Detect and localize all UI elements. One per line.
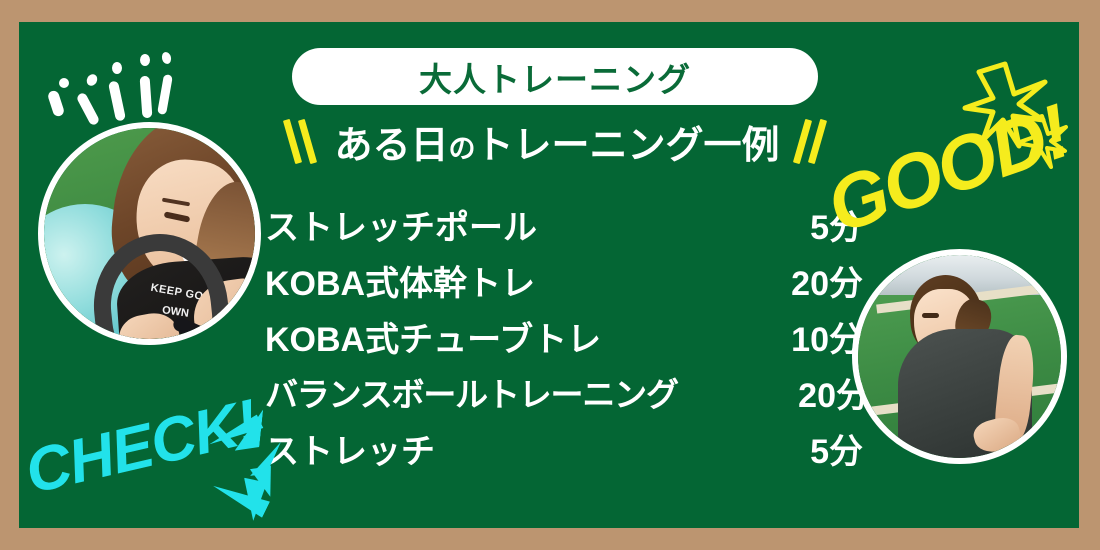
menu-name: バランスボールトレーニング bbox=[265, 368, 678, 416]
menu-name: KOBA式体幹トレ bbox=[265, 256, 535, 305]
emphasis-dash-icon bbox=[112, 62, 122, 74]
subtitle-particle: の bbox=[449, 134, 476, 164]
emphasis-dash-icon-group bbox=[39, 32, 169, 132]
menu-duration: 20分 bbox=[791, 256, 863, 305]
page-title: 大人トレーニング bbox=[419, 53, 691, 101]
menu-duration: 5分 bbox=[810, 424, 863, 473]
double-slash-icon-right bbox=[794, 117, 828, 165]
training-info-card: 大人トレーニング ある日のトレーニング一例 ストレッチポール 5分 KOBA式体… bbox=[19, 22, 1079, 528]
emphasis-dash-icon bbox=[85, 72, 99, 87]
training-menu-list: ストレッチポール 5分 KOBA式体幹トレ 20分 KOBA式チューブトレ 10… bbox=[265, 196, 865, 476]
check-badge: CHECK! bbox=[19, 402, 289, 512]
emphasis-dash-icon bbox=[47, 89, 65, 117]
menu-name: KOBA式チューブトレ bbox=[265, 312, 601, 361]
emphasis-dash-icon bbox=[157, 74, 173, 115]
list-item: ストレッチ 5分 bbox=[265, 420, 865, 476]
list-item: KOBA式体幹トレ 20分 bbox=[265, 252, 865, 308]
good-badge-label: GOOD! bbox=[817, 88, 1079, 251]
subtitle-part-1: ある日 bbox=[334, 125, 448, 167]
photo-inner: KEEP GOING OWN bbox=[44, 128, 255, 339]
subtitle: ある日のトレーニング一例 bbox=[334, 114, 779, 169]
emphasis-dash-icon bbox=[140, 76, 153, 119]
emphasis-dash-icon bbox=[140, 54, 150, 66]
photo-trainer-standing bbox=[852, 249, 1067, 464]
menu-name: ストレッチ bbox=[265, 424, 435, 473]
list-item: バランスボールトレーニング 20分 bbox=[265, 364, 865, 420]
good-badge: GOOD! bbox=[831, 140, 1061, 240]
page-title-pill: 大人トレーニング bbox=[292, 48, 818, 105]
check-badge-label: CHECK! bbox=[19, 386, 264, 508]
menu-name: ストレッチポール bbox=[265, 200, 537, 249]
emphasis-dash-icon bbox=[59, 78, 69, 88]
emphasis-dash-icon bbox=[161, 51, 173, 65]
subtitle-row: ある日のトレーニング一例 bbox=[292, 110, 822, 172]
eye bbox=[922, 313, 939, 318]
photo-trainer-with-ball: KEEP GOING OWN bbox=[38, 122, 261, 345]
emphasis-dash-icon bbox=[76, 92, 101, 127]
emphasis-dash-icon bbox=[108, 80, 126, 121]
list-item: ストレッチポール 5分 bbox=[265, 196, 865, 252]
double-slash-icon-left bbox=[286, 117, 320, 165]
list-item: KOBA式チューブトレ 10分 bbox=[265, 308, 865, 364]
subtitle-part-2: トレーニング一例 bbox=[476, 125, 780, 167]
photo-inner bbox=[858, 255, 1061, 458]
